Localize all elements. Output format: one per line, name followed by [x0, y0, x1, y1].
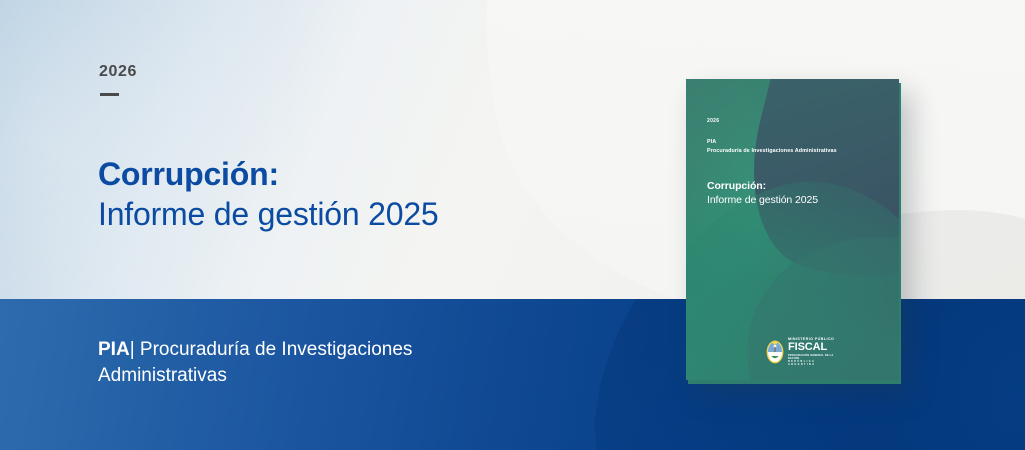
banner-headline: Corrupción: Informe de gestión 2025 — [98, 157, 439, 233]
footer-org-name: Procuraduría de Investigaciones Administ… — [98, 339, 412, 386]
mpf-logo-text: MINISTERIO PÚBLICO FISCAL PROCURACIÓN GE… — [788, 338, 836, 366]
cover-artwork: 2026 PIA Procuraduría de Investigaciones… — [686, 79, 899, 380]
banner-footer-credit: PIA| Procuraduría de Investigaciones Adm… — [98, 337, 528, 389]
logo-main-text: FISCAL — [788, 342, 836, 354]
cover-year-block: 2026 — [707, 118, 719, 124]
banner-year: 2026 — [99, 63, 137, 81]
year-divider-rule — [100, 93, 119, 96]
report-cover-mockup[interactable]: 2026 PIA Procuraduría de Investigaciones… — [686, 79, 899, 380]
report-promo-banner: 2026 Corrupción: Informe de gestión 2025… — [0, 0, 1025, 450]
headline-line-1: Corrupción: — [98, 157, 439, 193]
band-accent-glow — [880, 299, 1025, 450]
cover-year: 2026 — [707, 118, 719, 124]
argentina-shield-emblem-icon — [766, 340, 784, 364]
cover-org-name: Procuraduría de Investigaciones Administ… — [707, 147, 837, 156]
footer-abbr: PIA — [98, 339, 130, 360]
logo-sub-text-2: REPÚBLICA ARGENTINA — [788, 360, 836, 366]
mpf-logo: MINISTERIO PÚBLICO FISCAL PROCURACIÓN GE… — [766, 337, 836, 367]
cover-title: Corrupción: Informe de gestión 2025 — [707, 180, 818, 208]
cover-title-line-1: Corrupción: — [707, 180, 818, 194]
background-highlight-shape — [0, 0, 310, 300]
cover-title-line-2: Informe de gestión 2025 — [707, 194, 818, 208]
headline-line-2: Informe de gestión 2025 — [98, 197, 439, 233]
cover-org-block: PIA Procuraduría de Investigaciones Admi… — [707, 138, 837, 156]
cover-org-abbr: PIA — [707, 138, 837, 147]
